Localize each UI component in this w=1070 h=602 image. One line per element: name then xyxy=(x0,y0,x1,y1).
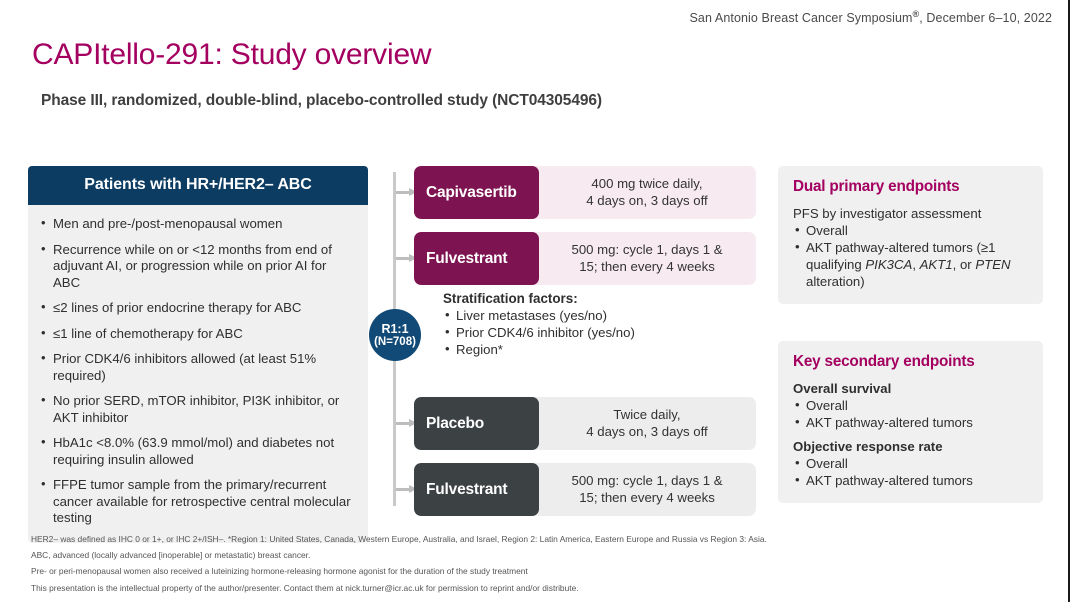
conference-name: San Antonio Breast Cancer Symposium xyxy=(689,11,912,25)
list-item: Overall xyxy=(793,222,1029,239)
footnote-line: This presentation is the intellectual pr… xyxy=(31,580,1051,596)
arm-name: Fulvestrant xyxy=(414,463,539,516)
list-item: AKT pathway-altered tumors xyxy=(793,414,1029,431)
eligibility-criteria-list: Men and pre-/post-menopausal women Recur… xyxy=(38,216,354,527)
arm-name: Placebo xyxy=(414,397,539,450)
footnote-line: Pre- or peri-menopausal women also recei… xyxy=(31,563,1051,579)
arrow-shaft xyxy=(396,488,410,491)
list-item: Liver metastases (yes/no) xyxy=(443,307,743,324)
secondary-list-os: Overall AKT pathway-altered tumors xyxy=(793,397,1029,431)
secondary-group-label-orr: Objective response rate xyxy=(793,438,1029,455)
treatment-arm-placebo: Placebo Twice daily,4 days on, 3 days of… xyxy=(414,397,756,450)
list-item: ≤1 line of chemotherapy for ABC xyxy=(38,326,354,343)
arm-name: Capivasertib xyxy=(414,166,539,219)
arm-dose: 400 mg twice daily,4 days on, 3 days off xyxy=(532,166,756,219)
stratification-list: Liver metastases (yes/no) Prior CDK4/6 i… xyxy=(443,307,743,358)
list-item: AKT pathway-altered tumors xyxy=(793,472,1029,489)
list-item: Overall xyxy=(793,455,1029,472)
treatment-arm-fulvestrant-active: Fulvestrant 500 mg: cycle 1, days 1 &15;… xyxy=(414,232,756,285)
arrow-shaft xyxy=(396,422,410,425)
population-panel-header: Patients with HR+/HER2– ABC xyxy=(28,166,368,205)
primary-endpoints-title: Dual primary endpoints xyxy=(793,178,1029,196)
list-item: Prior CDK4/6 inhibitors allowed (at leas… xyxy=(38,351,354,384)
conference-header: San Antonio Breast Cancer Symposium®, De… xyxy=(689,9,1052,25)
footnote-line: HER2– was defined as IHC 0 or 1+, or IHC… xyxy=(31,531,1051,547)
gene-pten: PTEN xyxy=(975,257,1010,272)
randomization-flow: R1:1 (N=708) Capivasertib 400 mg twice d… xyxy=(386,166,756,516)
primary-endpoints-lead: PFS by investigator assessment xyxy=(793,205,1029,222)
randomization-ratio: R1:1 xyxy=(381,322,408,336)
arm-dose: Twice daily,4 days on, 3 days off xyxy=(532,397,756,450)
conference-dates: , December 6–10, 2022 xyxy=(919,11,1052,25)
treatment-arm-capivasertib: Capivasertib 400 mg twice daily,4 days o… xyxy=(414,166,756,219)
randomization-node: R1:1 (N=708) xyxy=(369,309,421,361)
list-item: No prior SERD, mTOR inhibitor, PI3K inhi… xyxy=(38,393,354,426)
page-title: CAPItello-291: Study overview xyxy=(32,38,431,72)
list-item: Recurrence while on or <12 months from e… xyxy=(38,242,354,292)
arrow-shaft xyxy=(396,257,410,260)
arrow-shaft xyxy=(396,191,410,194)
secondary-endpoints-panel: Key secondary endpoints Overall survival… xyxy=(778,341,1043,503)
arm-dose: 500 mg: cycle 1, days 1 &15; then every … xyxy=(532,232,756,285)
list-item: Men and pre-/post-menopausal women xyxy=(38,216,354,233)
primary-endpoints-list: Overall AKT pathway-altered tumors (≥1 q… xyxy=(793,222,1029,290)
list-item: HbA1c <8.0% (63.9 mmol/mol) and diabetes… xyxy=(38,435,354,468)
gene-pik3ca: PIK3CA xyxy=(865,257,912,272)
arm-dose: 500 mg: cycle 1, days 1 &15; then every … xyxy=(532,463,756,516)
footnote-line: ABC, advanced (locally advanced [inopera… xyxy=(31,547,1051,563)
list-item: FFPE tumor sample from the primary/recur… xyxy=(38,477,354,527)
secondary-list-orr: Overall AKT pathway-altered tumors xyxy=(793,455,1029,489)
list-item: AKT pathway-altered tumors (≥1 qualifyin… xyxy=(793,239,1029,290)
primary-endpoints-panel: Dual primary endpoints PFS by investigat… xyxy=(778,166,1043,304)
population-panel-body: Men and pre-/post-menopausal women Recur… xyxy=(28,205,368,543)
secondary-endpoints-title: Key secondary endpoints xyxy=(793,353,1029,371)
stratification-factors: Stratification factors: Liver metastases… xyxy=(443,291,743,358)
list-item: Prior CDK4/6 inhibitor (yes/no) xyxy=(443,324,743,341)
gene-akt1: AKT1 xyxy=(920,257,953,272)
footnotes: HER2– was defined as IHC 0 or 1+, or IHC… xyxy=(31,531,1051,596)
list-item: Overall xyxy=(793,397,1029,414)
population-panel: Patients with HR+/HER2– ABC Men and pre-… xyxy=(28,166,368,543)
list-item: Region* xyxy=(443,341,743,358)
treatment-arm-fulvestrant-control: Fulvestrant 500 mg: cycle 1, days 1 &15;… xyxy=(414,463,756,516)
list-item: ≤2 lines of prior endocrine therapy for … xyxy=(38,300,354,317)
randomization-sample-size: (N=708) xyxy=(374,336,416,349)
stratification-title: Stratification factors: xyxy=(443,291,743,306)
slide-canvas: San Antonio Breast Cancer Symposium®, De… xyxy=(0,0,1070,602)
secondary-group-label-os: Overall survival xyxy=(793,380,1029,397)
page-subtitle: Phase III, randomized, double-blind, pla… xyxy=(41,92,602,110)
arm-name: Fulvestrant xyxy=(414,232,539,285)
